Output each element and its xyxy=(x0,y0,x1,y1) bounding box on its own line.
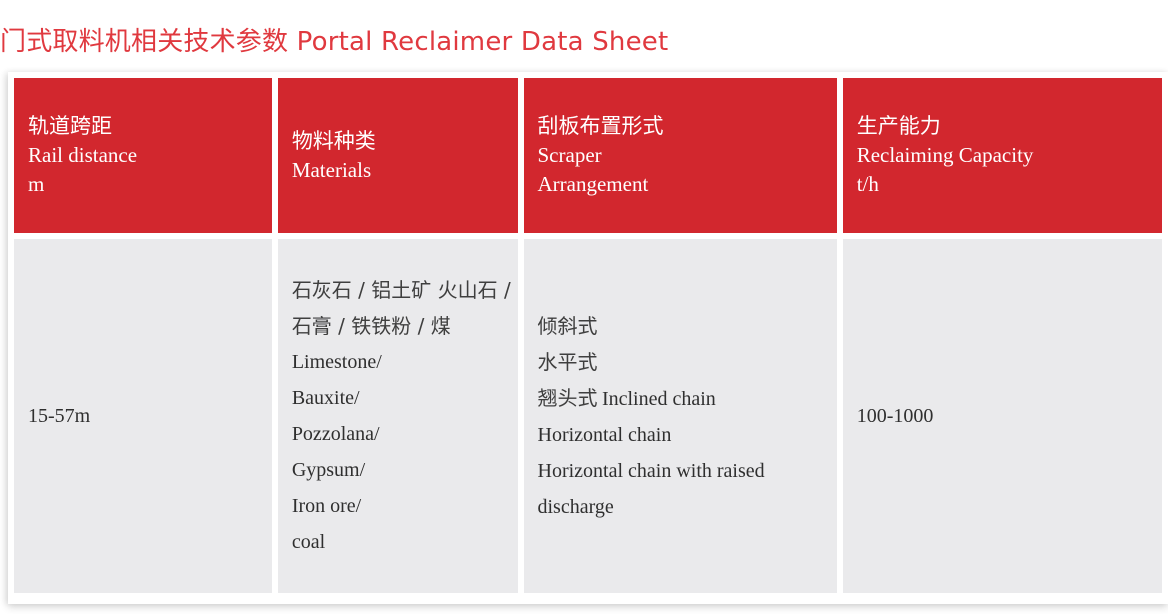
header-zh-materials: 物料种类 xyxy=(292,129,376,153)
header-cell-scraper-arrangement: 刮板布置形式 Scraper Arrangement xyxy=(524,78,837,233)
header-cell-materials: 物料种类 Materials xyxy=(278,78,518,233)
cell-scraper-arrangement-value: 倾斜式 水平式 翘头式 Inclined chain Horizontal ch… xyxy=(524,239,837,593)
table-header-row: 轨道跨距 Rail distance m 物料种类 Materials xyxy=(14,78,1162,233)
header-unit-rail-distance: m xyxy=(28,172,44,196)
cell-rail-distance-value: 15-57m xyxy=(14,239,272,593)
header-zh-scraper-arrangement: 刮板布置形式 xyxy=(538,114,664,138)
page-title: 门式取料机相关技术参数 Portal Reclaimer Data Sheet xyxy=(0,22,1160,62)
value-reclaiming-capacity: 100-1000 xyxy=(857,405,934,427)
table-row: 15-57m 石灰石 / 铝土矿 火山石 / 石膏 / 铁铁粉 / 煤 Lime… xyxy=(14,239,1162,593)
portal-reclaimer-spec-table: 轨道跨距 Rail distance m 物料种类 Materials xyxy=(8,72,1168,599)
cell-materials-value: 石灰石 / 铝土矿 火山石 / 石膏 / 铁铁粉 / 煤 Limestone/ … xyxy=(278,239,518,593)
page-root: 门式取料机相关技术参数 Portal Reclaimer Data Sheet … xyxy=(0,0,1168,614)
header-en-reclaiming-capacity: Reclaiming Capacity xyxy=(857,143,1034,167)
value-en-materials: Limestone/ Bauxite/ Pozzolana/ Gypsum/ I… xyxy=(292,351,382,553)
header-zh-rail-distance: 轨道跨距 xyxy=(28,114,112,138)
value-rail-distance: 15-57m xyxy=(28,405,90,427)
header-en-scraper-arrangement: Scraper Arrangement xyxy=(538,143,649,196)
cell-reclaiming-capacity-value: 100-1000 xyxy=(843,239,1162,593)
value-zh-materials: 石灰石 / 铝土矿 火山石 / 石膏 / 铁铁粉 / 煤 xyxy=(292,278,511,338)
header-zh-reclaiming-capacity: 生产能力 xyxy=(857,114,941,138)
header-en-rail-distance: Rail distance xyxy=(28,143,137,167)
header-cell-rail-distance: 轨道跨距 Rail distance m xyxy=(14,78,272,233)
header-cell-reclaiming-capacity: 生产能力 Reclaiming Capacity t/h xyxy=(843,78,1162,233)
value-zh-scraper-arrangement: 倾斜式 水平式 翘头式 xyxy=(538,314,598,410)
header-unit-reclaiming-capacity: t/h xyxy=(857,172,879,196)
spec-table-wrapper: 轨道跨距 Rail distance m 物料种类 Materials xyxy=(8,72,1168,604)
header-en-materials: Materials xyxy=(292,158,371,182)
